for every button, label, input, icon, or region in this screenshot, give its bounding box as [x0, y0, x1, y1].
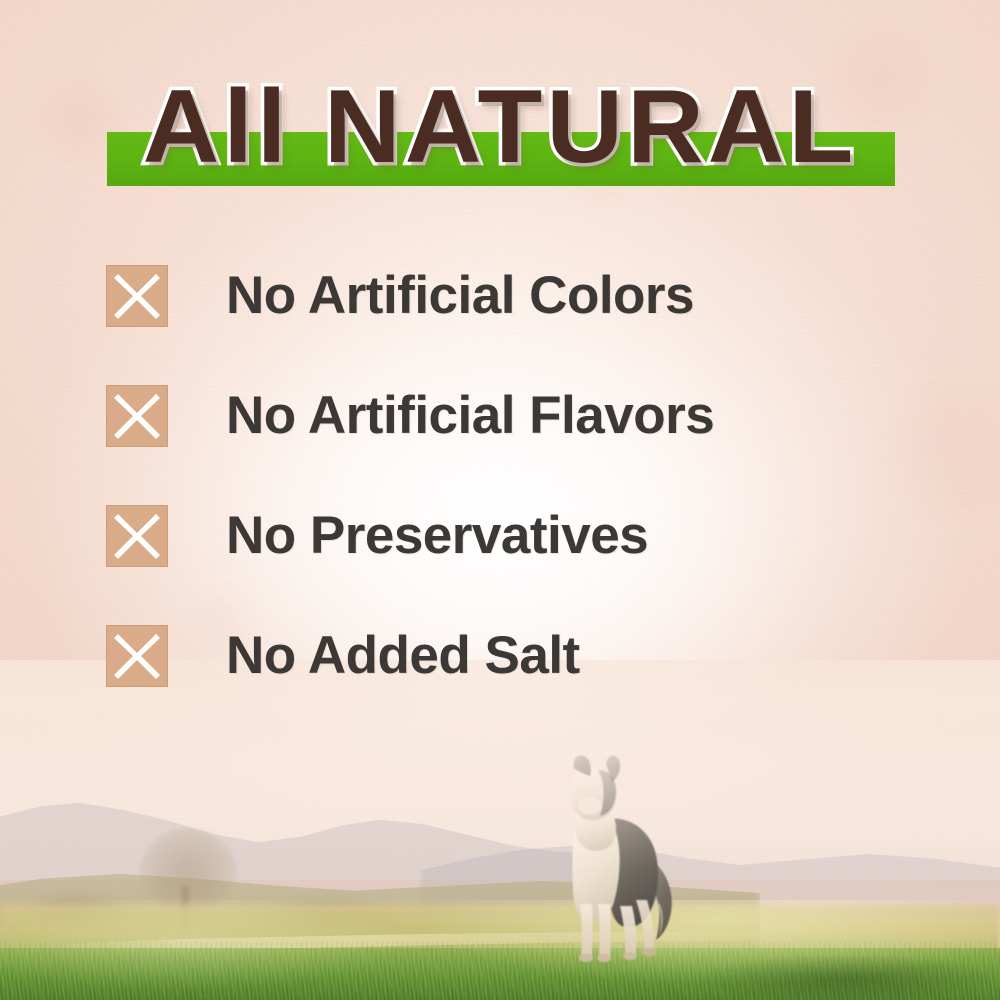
list-item: No Preservatives [106, 502, 926, 570]
x-mark-icon [106, 265, 168, 327]
x-mark-icon [106, 625, 168, 687]
list-item: No Added Salt [106, 622, 926, 690]
headline-banner: All NATURAL [0, 72, 1000, 192]
x-mark-icon [106, 385, 168, 447]
page-title: All NATURAL [0, 72, 1000, 182]
x-mark-icon [106, 505, 168, 567]
claims-list: No Artificial Colors No Artificial Flavo… [106, 262, 926, 742]
list-item-label: No Artificial Flavors [226, 385, 714, 447]
list-item-label: No Artificial Colors [226, 265, 694, 327]
list-item-label: No Added Salt [226, 625, 580, 687]
list-item: No Artificial Colors [106, 262, 926, 330]
list-item-label: No Preservatives [226, 505, 648, 567]
list-item: No Artificial Flavors [106, 382, 926, 450]
all-natural-poster: All NATURAL No Artificial Colors No Arti… [0, 0, 1000, 1000]
